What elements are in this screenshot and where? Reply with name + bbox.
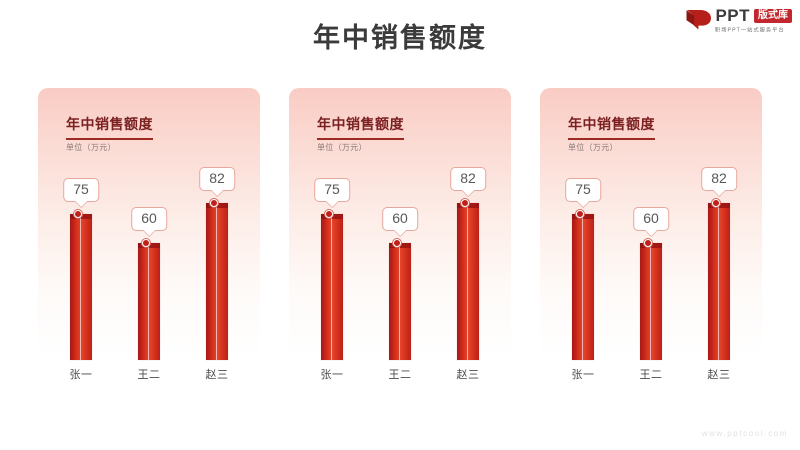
bar-slot: 82 bbox=[439, 160, 497, 360]
bar[interactable] bbox=[572, 214, 594, 360]
bar-centerline bbox=[650, 245, 651, 360]
category-label: 张一 bbox=[52, 366, 110, 382]
value-callout: 75 bbox=[565, 178, 601, 202]
bar-chart-1: 75 60 82 bbox=[38, 88, 260, 368]
bar-centerline bbox=[148, 245, 149, 360]
bar[interactable] bbox=[70, 214, 92, 360]
bar-centerline bbox=[718, 205, 719, 360]
bar-marker-dot bbox=[74, 210, 82, 218]
bar-centerline bbox=[467, 205, 468, 360]
bar-slot: 75 bbox=[554, 160, 612, 360]
logo-wordmark: PPT bbox=[715, 7, 750, 24]
bar-slot: 60 bbox=[120, 160, 178, 360]
category-label: 王二 bbox=[371, 366, 429, 382]
category-label: 张一 bbox=[303, 366, 361, 382]
bar-slot: 82 bbox=[690, 160, 748, 360]
value-callout: 75 bbox=[63, 178, 99, 202]
logo-badge: 版式库 bbox=[754, 9, 792, 23]
category-label: 张一 bbox=[554, 366, 612, 382]
chart-card-1: 年中销售额度 单位（万元） 75 60 bbox=[38, 88, 260, 368]
watermark: www.pptcool.com bbox=[702, 429, 788, 438]
value-callout: 60 bbox=[382, 207, 418, 231]
bar-marker-dot bbox=[142, 239, 150, 247]
bar-centerline bbox=[216, 205, 217, 360]
bar-marker-dot bbox=[210, 199, 218, 207]
category-label: 赵三 bbox=[439, 366, 497, 382]
value-callout: 75 bbox=[314, 178, 350, 202]
bar-marker-dot bbox=[576, 210, 584, 218]
category-label: 王二 bbox=[120, 366, 178, 382]
bar-slot: 82 bbox=[188, 160, 246, 360]
bar[interactable] bbox=[206, 203, 228, 360]
value-callout: 82 bbox=[450, 167, 486, 191]
bar-centerline bbox=[80, 216, 81, 360]
logo-tagline: 职场PPT一站式服务平台 bbox=[715, 26, 785, 34]
cards-row: 年中销售额度 单位（万元） 75 60 bbox=[38, 88, 762, 368]
value-callout: 82 bbox=[199, 167, 235, 191]
bar-centerline bbox=[399, 245, 400, 360]
bar-chart-2: 75 60 82 bbox=[289, 88, 511, 368]
bar-chart-3: 75 60 82 bbox=[540, 88, 762, 368]
bar[interactable] bbox=[321, 214, 343, 360]
category-label: 王二 bbox=[622, 366, 680, 382]
bar-slot: 75 bbox=[52, 160, 110, 360]
value-callout: 60 bbox=[633, 207, 669, 231]
bar-slot: 60 bbox=[622, 160, 680, 360]
p-logo-icon bbox=[686, 8, 712, 30]
bar-slot: 60 bbox=[371, 160, 429, 360]
bar[interactable] bbox=[708, 203, 730, 360]
bar[interactable] bbox=[640, 243, 662, 360]
bar-marker-dot bbox=[461, 199, 469, 207]
bar-slot: 75 bbox=[303, 160, 361, 360]
bar[interactable] bbox=[457, 203, 479, 360]
value-callout: 82 bbox=[701, 167, 737, 191]
bar[interactable] bbox=[138, 243, 160, 360]
logo-main-row: PPT 版式库 bbox=[715, 7, 792, 24]
bar-centerline bbox=[331, 216, 332, 360]
brand-logo: PPT 版式库 职场PPT一站式服务平台 bbox=[686, 7, 792, 37]
bar-marker-dot bbox=[644, 239, 652, 247]
bar[interactable] bbox=[389, 243, 411, 360]
bar-marker-dot bbox=[393, 239, 401, 247]
value-callout: 60 bbox=[131, 207, 167, 231]
bar-marker-dot bbox=[712, 199, 720, 207]
chart-card-2: 年中销售额度 单位（万元） 75 60 bbox=[289, 88, 511, 368]
bar-marker-dot bbox=[325, 210, 333, 218]
logo-text: PPT 版式库 职场PPT一站式服务平台 bbox=[715, 7, 792, 34]
chart-card-3: 年中销售额度 单位（万元） 75 60 bbox=[540, 88, 762, 368]
category-label: 赵三 bbox=[188, 366, 246, 382]
bar-centerline bbox=[582, 216, 583, 360]
category-label: 赵三 bbox=[690, 366, 748, 382]
page-title: 年中销售额度 bbox=[0, 16, 800, 55]
